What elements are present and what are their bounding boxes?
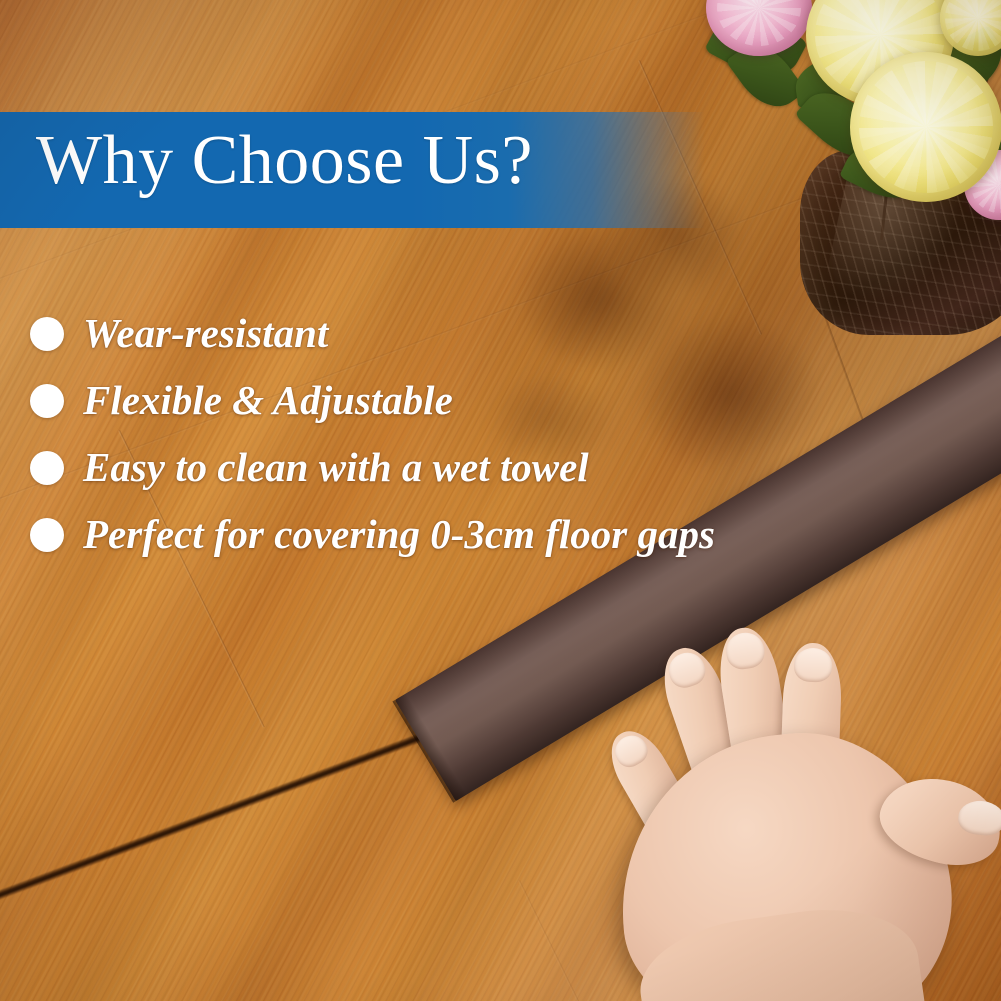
circle-bullet-icon	[30, 518, 64, 552]
feature-label: Perfect for covering 0-3cm floor gaps	[83, 514, 715, 555]
page-title: Why Choose Us?	[36, 126, 533, 196]
circle-bullet-icon	[30, 317, 64, 351]
list-item: Flexible & Adjustable	[30, 367, 790, 434]
list-item: Easy to clean with a wet towel	[30, 434, 790, 501]
list-item: Wear-resistant	[30, 300, 790, 367]
list-item: Perfect for covering 0-3cm floor gaps	[30, 501, 790, 568]
feature-list: Wear-resistant Flexible & Adjustable Eas…	[30, 300, 790, 568]
feature-label: Flexible & Adjustable	[83, 380, 453, 421]
circle-bullet-icon	[30, 451, 64, 485]
feature-label: Easy to clean with a wet towel	[83, 447, 589, 488]
product-feature-image: Why Choose Us? Wear-resistant Flexible &…	[0, 0, 1001, 1001]
circle-bullet-icon	[30, 384, 64, 418]
feature-label: Wear-resistant	[83, 313, 328, 354]
yellow-peony-flower	[850, 52, 1001, 202]
